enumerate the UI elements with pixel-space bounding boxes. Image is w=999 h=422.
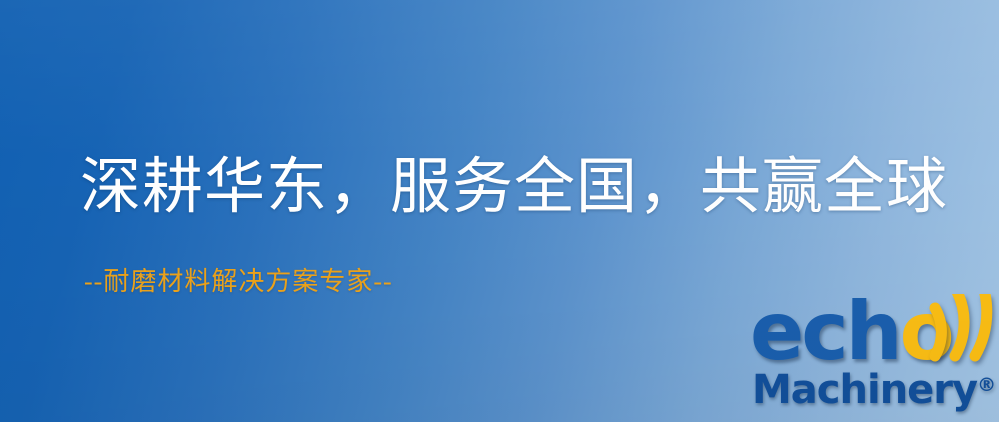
logo-brand-line: Machinery® [752, 362, 996, 413]
registered-trademark-icon: ® [977, 374, 996, 396]
promotional-banner: 深耕华东，服务全国，共赢全球 --耐磨材料解决方案专家-- echo Machi… [0, 0, 999, 422]
banner-headline: 深耕华东，服务全国，共赢全球 [80, 152, 948, 224]
banner-subtitle: --耐磨材料解决方案专家-- [84, 266, 393, 298]
logo-brand-text: Machinery [752, 367, 977, 413]
echo-signal-waves-icon [921, 294, 999, 372]
company-logo[interactable]: echo Machinery® [745, 296, 999, 422]
